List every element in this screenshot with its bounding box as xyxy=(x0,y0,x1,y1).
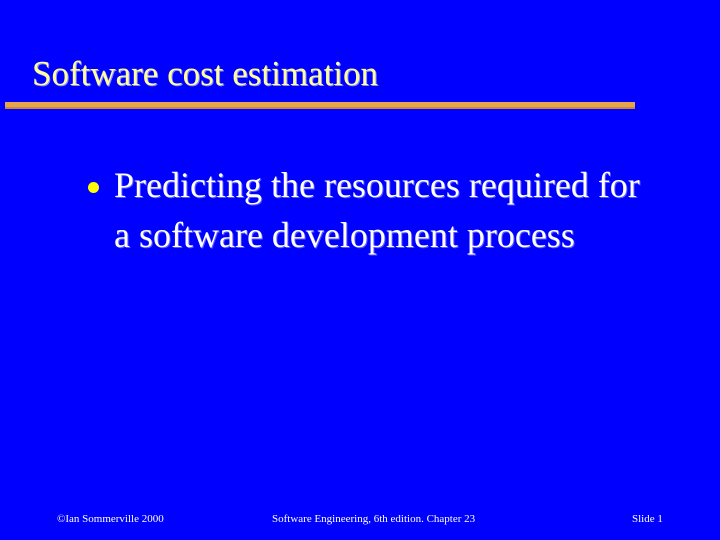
title-divider-rule xyxy=(5,102,635,109)
bullet-marker xyxy=(80,160,114,193)
footer-slide-number: Slide 1 xyxy=(632,512,663,526)
presentation-slide: Software cost estimation Predicting the … xyxy=(0,0,720,540)
list-item: Predicting the resources required for a … xyxy=(80,160,640,260)
slide-footer: ©Ian Sommerville 2000 Software Engineeri… xyxy=(0,512,720,532)
page-title: Software cost estimation xyxy=(32,54,672,94)
footer-copyright: ©Ian Sommerville 2000 xyxy=(57,512,164,526)
list-item-text: Predicting the resources required for a … xyxy=(114,160,640,260)
bullet-dot-icon xyxy=(88,182,99,193)
slide-body: Predicting the resources required for a … xyxy=(80,160,640,260)
title-block: Software cost estimation xyxy=(32,54,672,100)
footer-source: Software Engineering, 6th edition. Chapt… xyxy=(272,512,475,526)
